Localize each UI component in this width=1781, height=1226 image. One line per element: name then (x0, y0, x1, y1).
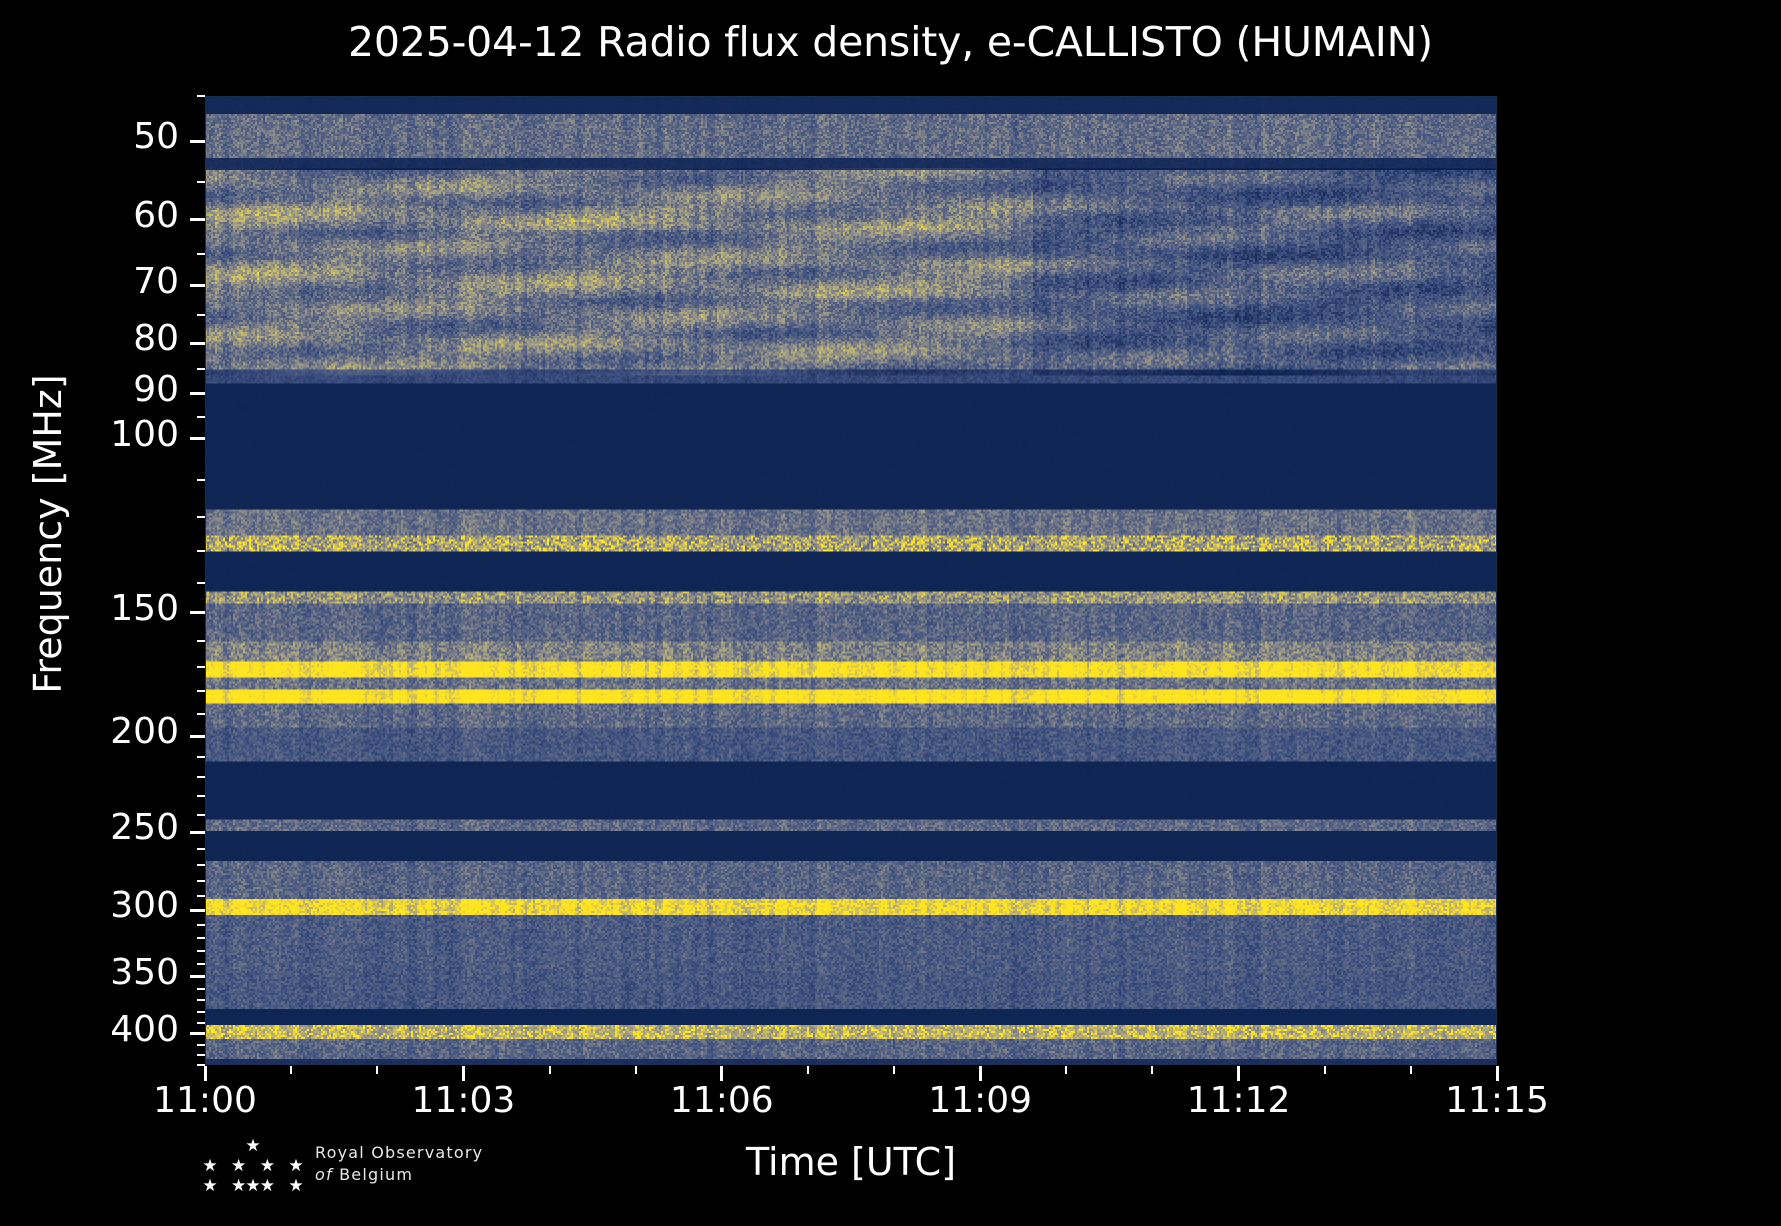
y-tick-minor (197, 880, 205, 882)
x-tick-label: 11:15 (1357, 1083, 1637, 1119)
y-tick-label: 250 (0, 810, 179, 846)
x-tick-minor (290, 1066, 292, 1074)
x-tick-label: 11:03 (323, 1083, 603, 1119)
y-tick-mark (190, 140, 205, 143)
logo-text: Royal Observatory of Belgium (315, 1142, 530, 1186)
y-tick-minor (197, 550, 205, 552)
y-tick-minor (197, 999, 205, 1001)
y-tick-minor (197, 848, 205, 850)
y-tick-minor (197, 1022, 205, 1024)
y-tick-minor (197, 988, 205, 990)
y-tick-minor (197, 253, 205, 255)
y-tick-label: 50 (0, 119, 179, 155)
y-tick-label: 60 (0, 198, 179, 234)
y-tick-mark (190, 975, 205, 978)
x-tick-label: 11:00 (65, 1083, 345, 1119)
y-tick-minor (197, 924, 205, 926)
x-tick-minor (1065, 1066, 1067, 1074)
y-tick-mark (190, 909, 205, 912)
x-tick-minor (1151, 1066, 1153, 1074)
page-title: 2025-04-12 Radio flux density, e-CALLIST… (0, 18, 1781, 66)
y-tick-mark (190, 437, 205, 440)
x-tick-mark (462, 1066, 465, 1081)
star-row: ★ ★ ★ ★ ★ (200, 1156, 310, 1176)
y-tick-mark (190, 1032, 205, 1035)
y-tick-minor (197, 814, 205, 816)
y-tick-minor (197, 640, 205, 642)
x-tick-minor (549, 1066, 551, 1074)
y-tick-minor (197, 776, 205, 778)
y-tick-label: 80 (0, 321, 179, 357)
y-tick-minor (197, 666, 205, 668)
x-tick-minor (893, 1066, 895, 1074)
x-tick-label: 11:06 (582, 1083, 862, 1119)
logo-of: of (315, 1165, 333, 1184)
x-tick-minor (376, 1066, 378, 1074)
x-tick-mark (204, 1066, 207, 1081)
y-tick-minor (197, 937, 205, 939)
y-tick-minor (197, 479, 205, 481)
y-tick-label: 300 (0, 888, 179, 924)
y-tick-mark (190, 735, 205, 738)
x-tick-minor (1410, 1066, 1412, 1074)
y-tick-minor (197, 864, 205, 866)
y-tick-minor (197, 368, 205, 370)
y-tick-label: 150 (0, 591, 179, 627)
y-tick-label: 70 (0, 264, 179, 300)
x-tick-mark (979, 1066, 982, 1081)
x-tick-minor (635, 1066, 637, 1074)
logo-line-1: Royal Observatory (315, 1142, 530, 1164)
y-tick-minor (197, 1054, 205, 1056)
spectrogram-image (205, 96, 1497, 1065)
y-tick-minor (197, 690, 205, 692)
star-row: ★ ★ ★ ★ (200, 1176, 310, 1196)
x-tick-label: 11:09 (840, 1083, 1120, 1119)
x-tick-mark (1496, 1066, 1499, 1081)
x-tick-minor (1324, 1066, 1326, 1074)
y-tick-minor (197, 895, 205, 897)
y-tick-label: 350 (0, 955, 179, 991)
y-tick-minor (197, 582, 205, 584)
y-tick-minor (197, 181, 205, 183)
y-tick-minor (197, 516, 205, 518)
y-tick-minor (197, 963, 205, 965)
y-tick-mark (190, 611, 205, 614)
spectrogram-plot[interactable] (205, 96, 1497, 1065)
logo-line-2: of Belgium (315, 1164, 530, 1186)
x-tick-label: 11:12 (1099, 1083, 1379, 1119)
y-tick-minor (197, 713, 205, 715)
y-tick-mark (190, 218, 205, 221)
star-row: ★ (200, 1136, 310, 1156)
y-tick-mark (190, 831, 205, 834)
x-tick-mark (1237, 1066, 1240, 1081)
y-tick-minor (197, 795, 205, 797)
x-tick-mark (720, 1066, 723, 1081)
y-tick-mark (190, 284, 205, 287)
y-tick-minor (197, 756, 205, 758)
y-tick-label: 100 (0, 417, 179, 453)
y-tick-minor (197, 950, 205, 952)
y-tick-mark (190, 342, 205, 345)
y-tick-minor (197, 1011, 205, 1013)
y-tick-minor (197, 95, 205, 97)
spectrogram-figure: 2025-04-12 Radio flux density, e-CALLIST… (0, 0, 1781, 1226)
y-tick-minor (197, 1044, 205, 1046)
y-tick-minor (197, 314, 205, 316)
logo-country: Belgium (339, 1165, 413, 1184)
y-tick-label: 400 (0, 1012, 179, 1048)
stars-icon: ★ ★ ★ ★ ★ ★ ★ ★ ★ ★ (200, 1136, 310, 1202)
y-tick-mark (190, 392, 205, 395)
y-tick-label: 90 (0, 372, 179, 408)
y-tick-label: 200 (0, 714, 179, 750)
y-tick-minor (197, 416, 205, 418)
x-tick-minor (807, 1066, 809, 1074)
royal-observatory-logo: ★ ★ ★ ★ ★ ★ ★ ★ ★ ★ Royal Observatory of… (200, 1132, 530, 1210)
